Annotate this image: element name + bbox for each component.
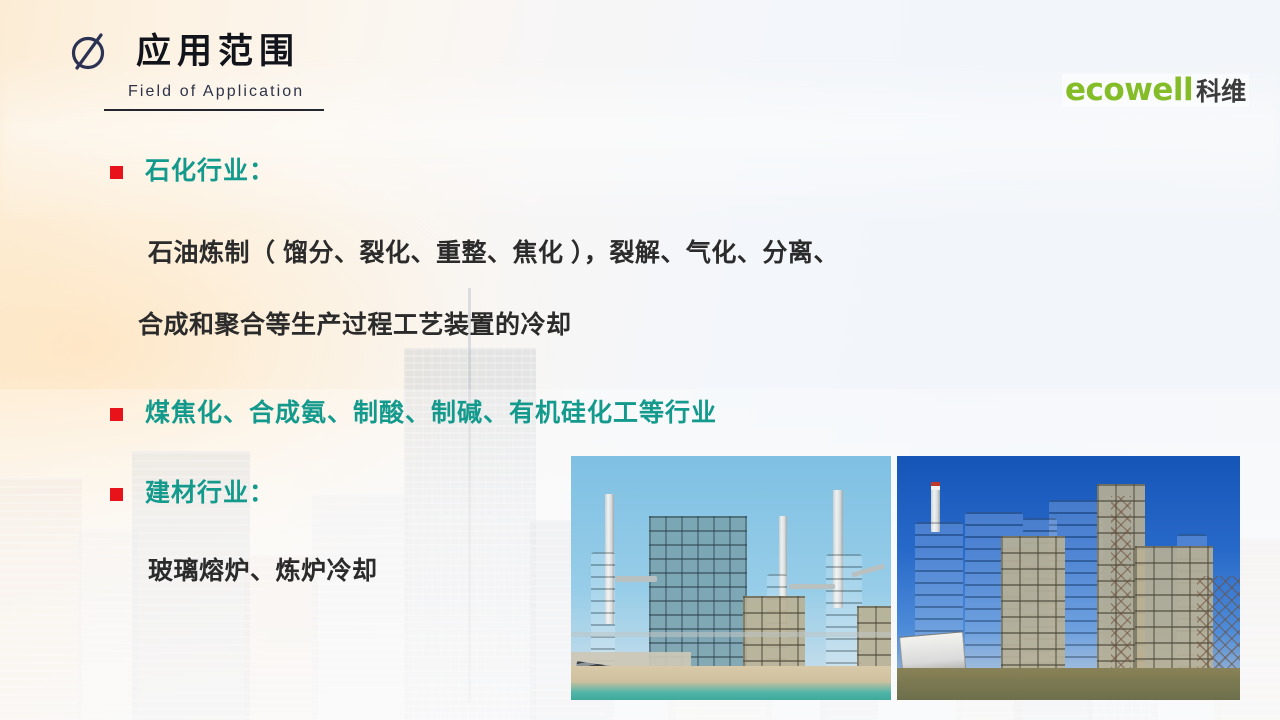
bullet-row-building-materials: 建材行业：: [110, 478, 275, 508]
red-square-bullet-icon: [110, 408, 123, 421]
diameter-symbol-icon: [68, 28, 112, 74]
title-underline: [104, 109, 324, 111]
logo-name-cn: 科维: [1196, 80, 1246, 105]
bullet-body-label: 合成和聚合等生产过程工艺装置的冷却: [138, 310, 572, 340]
red-square-bullet-icon: [110, 166, 123, 179]
bullet-body-label: 玻璃熔炉、炼炉冷却: [148, 556, 378, 586]
red-square-bullet-icon: [110, 488, 123, 501]
page-subtitle: Field of Application: [128, 83, 488, 101]
bullet-heading-label: 建材行业：: [145, 478, 275, 508]
bullet-heading-label: 煤焦化、合成氨、制酸、制碱、有机硅化工等行业: [145, 398, 717, 428]
logo-wordmark: ecowell: [1065, 75, 1193, 106]
bullet-row-refining-detail: 石油炼制（ 馏分、裂化、重整、焦化 ），裂解、气化、分离、: [148, 238, 839, 268]
bullet-row-coking-industries: 煤焦化、合成氨、制酸、制碱、有机硅化工等行业: [110, 398, 717, 428]
bullet-body-label: 石油炼制（ 馏分、裂化、重整、焦化 ），裂解、气化、分离、: [148, 238, 839, 268]
presentation-slide: 应用范围 Field of Application ecowell 科维 石化行…: [0, 0, 1280, 720]
industrial-plant-photo: [897, 456, 1240, 700]
bullet-row-petrochemical: 石化行业：: [110, 156, 275, 186]
bullet-row-furnace-detail: 玻璃熔炉、炼炉冷却: [148, 556, 378, 586]
slide-header: 应用范围 Field of Application: [68, 28, 488, 111]
petrochemical-refinery-photo: [571, 456, 891, 700]
bullet-row-synthesis-detail: 合成和聚合等生产过程工艺装置的冷却: [138, 310, 572, 340]
brand-logo: ecowell 科维: [1062, 74, 1249, 107]
page-title: 应用范围: [136, 34, 300, 69]
bullet-heading-label: 石化行业：: [145, 156, 275, 186]
